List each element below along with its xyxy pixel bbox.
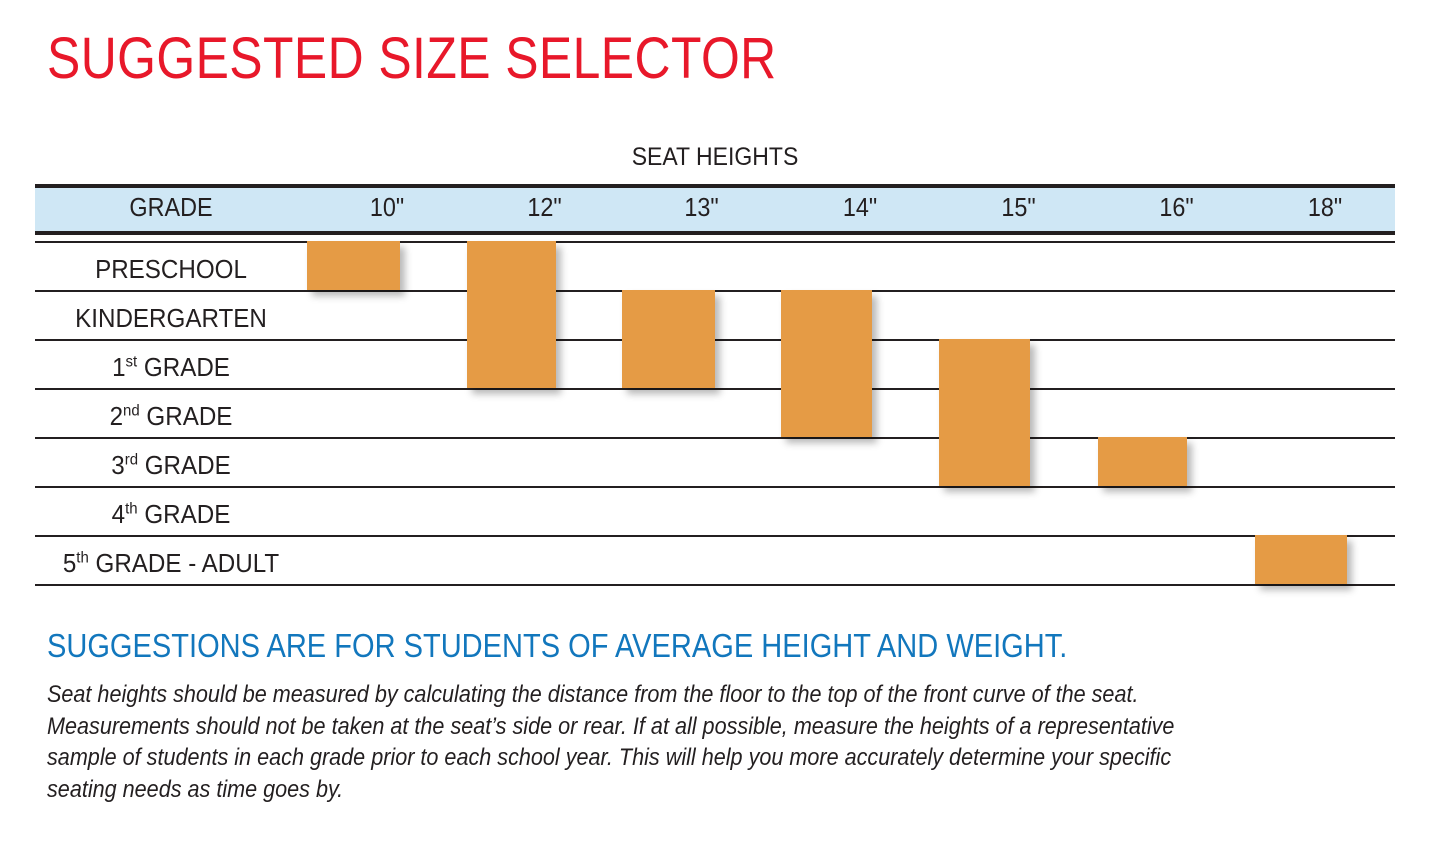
grade-label-grade-4: 4th GRADE: [45, 499, 298, 529]
bar-18in: [1255, 535, 1347, 584]
bar-12in: [467, 241, 556, 388]
bar-16in: [1098, 437, 1187, 486]
bar-15in: [939, 339, 1030, 486]
column-header-13in: 13": [630, 191, 773, 223]
body-line-1: Seat heights should be measured by calcu…: [47, 679, 1298, 711]
column-header-14in: 14": [789, 191, 931, 223]
column-header-15in: 15": [947, 191, 1090, 223]
grade-label-grade-3: 3rd GRADE: [45, 450, 298, 480]
row-rule-7: [35, 584, 1395, 586]
bar-10in: [307, 241, 400, 290]
grade-label-kindergarten: KINDERGARTEN: [45, 303, 298, 333]
grade-label-preschool: PRESCHOOL: [45, 254, 298, 284]
column-header-grade: GRADE: [49, 191, 294, 223]
suggested-size-table: GRADE 10" 12" 13" 14" 15" 16" 18" PRESCH…: [35, 184, 1395, 588]
row-rule-6: [35, 535, 1395, 537]
column-header-16in: 16": [1106, 191, 1247, 223]
grade-label-grade-5-adult: 5th GRADE - ADULT: [45, 548, 298, 578]
body-line-4: seating needs as time goes by.: [47, 774, 1298, 806]
row-rule-3: [35, 388, 1395, 390]
page-title: SUGGESTED SIZE SELECTOR: [47, 26, 777, 92]
row-rule-2: [35, 339, 1395, 341]
subtitle-banner: SUGGESTIONS ARE FOR STUDENTS OF AVERAGE …: [47, 626, 1067, 666]
row-rule-1: [35, 290, 1395, 292]
row-rule-5: [35, 486, 1395, 488]
seat-heights-caption: SEAT HEIGHTS: [89, 142, 1340, 172]
bar-13in: [622, 290, 715, 388]
column-header-18in: 18": [1262, 191, 1388, 223]
grade-label-grade-2: 2nd GRADE: [45, 401, 298, 431]
body-line-2: Measurements should not be taken at the …: [47, 711, 1298, 743]
body-line-3: sample of students in each grade prior t…: [47, 742, 1298, 774]
row-rule-0: [35, 241, 1395, 243]
row-rule-4: [35, 437, 1395, 439]
table-header-bottom-rule: [35, 231, 1395, 235]
grade-label-grade-1: 1st GRADE: [45, 352, 298, 382]
body-paragraph: Seat heights should be measured by calcu…: [47, 679, 1298, 805]
column-header-12in: 12": [475, 191, 615, 223]
bar-14in: [781, 290, 872, 437]
column-header-10in: 10": [315, 191, 459, 223]
